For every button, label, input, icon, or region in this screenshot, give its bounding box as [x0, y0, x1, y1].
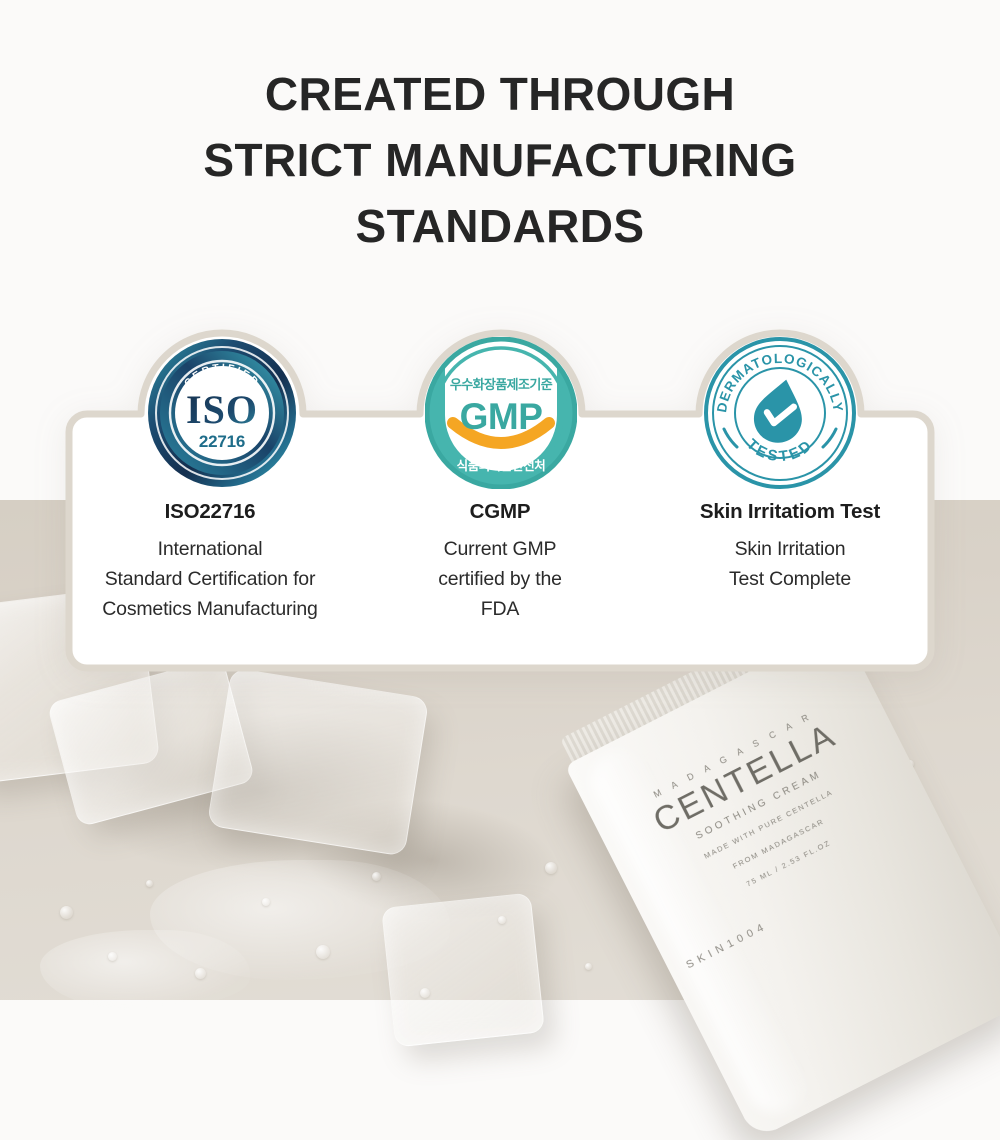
certification-description: International Standard Certification for… [75, 534, 345, 625]
water-droplet-shape [749, 375, 809, 448]
headline-line-2: STRICT MANUFACTURING [0, 128, 1000, 194]
certification-description: Current GMP certified by the FDA [365, 534, 635, 625]
certification-column-skin-irritation: Skin Irritatiom Test Skin Irritation Tes… [645, 500, 935, 672]
certification-captions: ISO22716 International Standard Certific… [65, 500, 935, 672]
iso-wordmark: ISO [186, 387, 258, 432]
certification-column-cgmp: CGMP Current GMP certified by the FDA [355, 500, 645, 672]
headline-line-3: STANDARDS [0, 194, 1000, 260]
iso-number: 22716 [199, 432, 245, 451]
certification-title: CGMP [365, 500, 635, 524]
gmp-korean-top: 우수화장품제조기준 [450, 377, 553, 393]
certification-title: Skin Irritatiom Test [655, 500, 925, 524]
gmp-korean-bottom: 식품의약품안전처 [457, 458, 546, 473]
certification-title: ISO22716 [75, 500, 345, 524]
gmp-certified-badge-icon: 우수화장품제조기준 GMP 식품의약품안전처 [425, 337, 577, 489]
dermatologically-tested-badge-icon: DERMATOLOGICALLY TESTED [704, 337, 856, 489]
headline-line-1: CREATED THROUGH [0, 62, 1000, 128]
iso-certified-badge-icon: CERTIFIED ISO 22716 [146, 337, 298, 489]
page-title: CREATED THROUGH STRICT MANUFACTURING STA… [0, 62, 1000, 259]
certification-column-iso: ISO22716 International Standard Certific… [65, 500, 355, 672]
gmp-wordmark: GMP [460, 396, 543, 437]
certification-description: Skin Irritation Test Complete [655, 534, 925, 594]
